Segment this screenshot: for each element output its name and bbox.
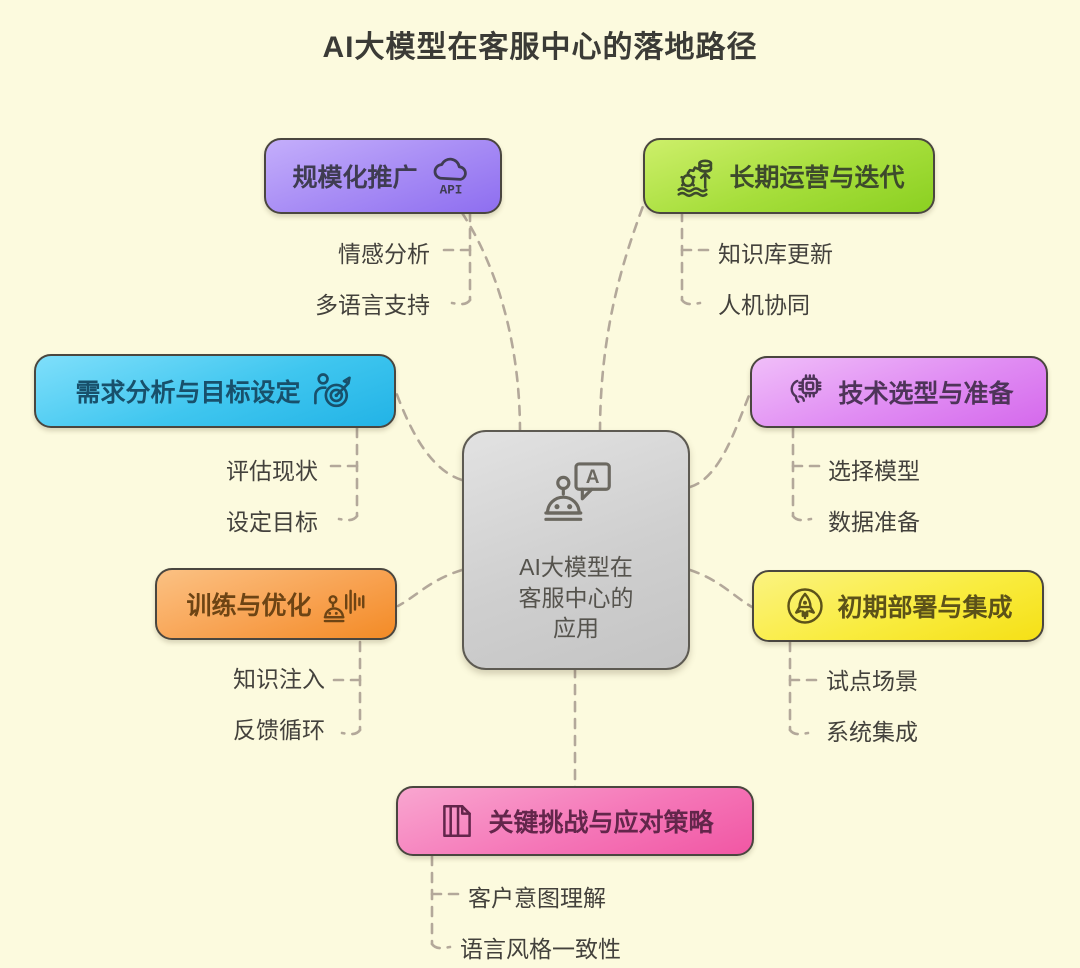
- person-target-icon: [311, 369, 355, 413]
- sub-item-tech-selection-0: 选择模型: [828, 452, 920, 486]
- branch-label-long-term-operation: 长期运营与迭代: [729, 158, 904, 194]
- sub-item-tech-selection-1: 数据准备: [828, 503, 920, 537]
- center-node-line-3: 应用: [553, 613, 599, 644]
- edge-long-term-operation: [600, 180, 652, 432]
- mindmap-canvas: AI大模型在客服中心的落地路径: [0, 0, 1080, 968]
- rocket-circle-icon: [783, 584, 827, 628]
- brain-chip-icon: [784, 370, 828, 414]
- robot-chat-icon: A: [538, 456, 614, 540]
- branch-node-key-challenges[interactable]: 关键挑战与应对策略: [396, 786, 754, 856]
- sub-item-requirement-analysis-0: 评估现状: [0, 452, 318, 486]
- sub-item-long-term-operation-0: 知识库更新: [718, 235, 833, 269]
- edge-requirement-analysis: [396, 392, 462, 480]
- branch-node-initial-deployment[interactable]: 初期部署与集成: [752, 570, 1044, 642]
- center-node-line-2: 客服中心的: [519, 583, 634, 614]
- robot-soundwave-icon: [322, 582, 366, 626]
- sub-item-key-challenges-1: 语言风格一致性: [460, 930, 621, 964]
- branch-node-scale-promotion[interactable]: 规模化推广 API: [264, 138, 502, 214]
- branch-label-key-challenges: 关键挑战与应对策略: [488, 803, 713, 839]
- sub-item-scale-promotion-1: 多语言支持: [130, 286, 430, 320]
- branch-node-tech-selection[interactable]: 技术选型与准备: [750, 356, 1048, 428]
- document-chart-icon: [436, 800, 478, 842]
- sub-item-scale-promotion-0: 情感分析: [130, 235, 430, 269]
- branch-label-scale-promotion: 规模化推广: [292, 158, 417, 194]
- sub-item-training-optimization-1: 反馈循环: [20, 711, 325, 745]
- edge-sub-long-term-1: [682, 300, 700, 304]
- edge-sub-scale-promotion-1: [452, 300, 470, 304]
- sub-item-long-term-operation-1: 人机协同: [718, 286, 810, 320]
- center-node-line-1: AI大模型在: [519, 552, 633, 583]
- edge-initial-deployment: [690, 570, 752, 607]
- edge-sub-tech-1: [793, 516, 811, 520]
- branch-node-requirement-analysis[interactable]: 需求分析与目标设定: [34, 354, 396, 428]
- branch-node-long-term-operation[interactable]: 长期运营与迭代: [643, 138, 935, 214]
- edge-sub-requirement-1: [339, 516, 357, 520]
- edge-sub-deployment-1: [790, 730, 808, 734]
- branch-label-initial-deployment: 初期部署与集成: [837, 588, 1012, 624]
- edge-training-optimization: [398, 570, 462, 606]
- cloud-api-icon: API: [428, 153, 474, 199]
- edge-scale-promotion: [440, 185, 520, 432]
- sub-item-requirement-analysis-1: 设定目标: [0, 503, 318, 537]
- branch-label-training-optimization: 训练与优化: [186, 586, 311, 622]
- edge-sub-challenges-1: [432, 944, 450, 948]
- branch-label-tech-selection: 技术选型与准备: [838, 374, 1013, 410]
- sub-item-initial-deployment-1: 系统集成: [826, 713, 918, 747]
- branch-node-training-optimization[interactable]: 训练与优化: [155, 568, 397, 640]
- edge-sub-training-1: [342, 730, 360, 734]
- edge-tech-selection: [690, 393, 750, 487]
- svg-text:API: API: [439, 182, 462, 197]
- sub-item-initial-deployment-0: 试点场景: [826, 662, 918, 696]
- sub-item-training-optimization-0: 知识注入: [20, 660, 325, 694]
- center-node[interactable]: A AI大模型在 客服中心的 应用: [462, 430, 690, 670]
- sub-item-key-challenges-0: 客户意图理解: [468, 879, 606, 913]
- page-title: AI大模型在客服中心的落地路径: [0, 22, 1080, 66]
- svg-text:A: A: [586, 467, 600, 488]
- gear-database-arrow-icon: [673, 153, 719, 199]
- branch-label-requirement-analysis: 需求分析与目标设定: [75, 373, 300, 409]
